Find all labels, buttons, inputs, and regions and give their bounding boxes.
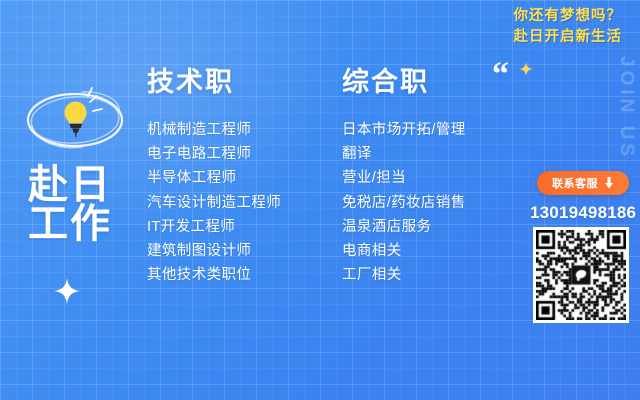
list-item: 温泉酒店服务 — [342, 215, 542, 239]
contact-support-button[interactable]: 联系客服 — [537, 171, 629, 195]
headline-line-2: 赴日开启新生活 — [514, 27, 623, 48]
list-item: 建筑制图设计师 — [147, 239, 337, 263]
sketch-ellipse-icon — [20, 82, 130, 156]
job-list-general: 日本市场开拓/管理 翻译 营业/担当 免税店/药妆店销售 温泉酒店服务 电商相关… — [342, 118, 542, 287]
list-item: 半导体工程师 — [147, 166, 337, 190]
brand-block: 赴日 工作 — [20, 82, 142, 244]
column-heading-technical: 技术职 — [147, 60, 337, 99]
brand-title-line2: 工作 — [28, 205, 142, 244]
list-item: 工厂相关 — [342, 263, 542, 287]
qr-code-image — [536, 230, 626, 320]
job-column-technical: 技术职 机械制造工程师 电子电路工程师 半导体工程师 汽车设计制造工程师 IT开… — [147, 60, 337, 287]
headline-block: 你还有梦想吗？ 赴日开启新生活 — [514, 6, 623, 47]
list-item: 电商相关 — [342, 239, 542, 263]
list-item: 电子电路工程师 — [147, 142, 337, 166]
page-title: 赴日 工作 — [20, 166, 142, 244]
job-column-general: 综合职 日本市场开拓/管理 翻译 营业/担当 免税店/药妆店销售 温泉酒店服务 … — [342, 60, 542, 287]
list-item: 汽车设计制造工程师 — [147, 191, 337, 215]
job-list-technical: 机械制造工程师 电子电路工程师 半导体工程师 汽车设计制造工程师 IT开发工程师… — [147, 118, 337, 287]
lightbulb-badge — [20, 82, 130, 156]
poster-canvas: 赴日 工作 “ 你还有梦想吗？ 赴日开启新生活 JOIN US 技术职 机械制造… — [0, 0, 640, 400]
column-heading-general: 综合职 — [342, 60, 542, 99]
list-item: 免税店/药妆店销售 — [342, 191, 542, 215]
sparkle-star-icon — [54, 278, 80, 309]
contact-phone-number: 13019498186 — [530, 203, 634, 223]
list-item: IT开发工程师 — [147, 215, 337, 239]
list-item: 翻译 — [342, 142, 542, 166]
list-item: 营业/担当 — [342, 166, 542, 190]
list-item: 机械制造工程师 — [147, 118, 337, 142]
list-item: 其他技术类职位 — [147, 263, 337, 287]
arrow-down-icon — [604, 177, 614, 189]
qr-code[interactable] — [533, 227, 629, 323]
contact-support-label: 联系客服 — [552, 175, 598, 191]
list-item: 日本市场开拓/管理 — [342, 118, 542, 142]
brand-title-line1: 赴日 — [28, 166, 142, 205]
headline-line-1: 你还有梦想吗？ — [514, 6, 623, 27]
join-us-watermark: JOIN US — [617, 56, 636, 160]
